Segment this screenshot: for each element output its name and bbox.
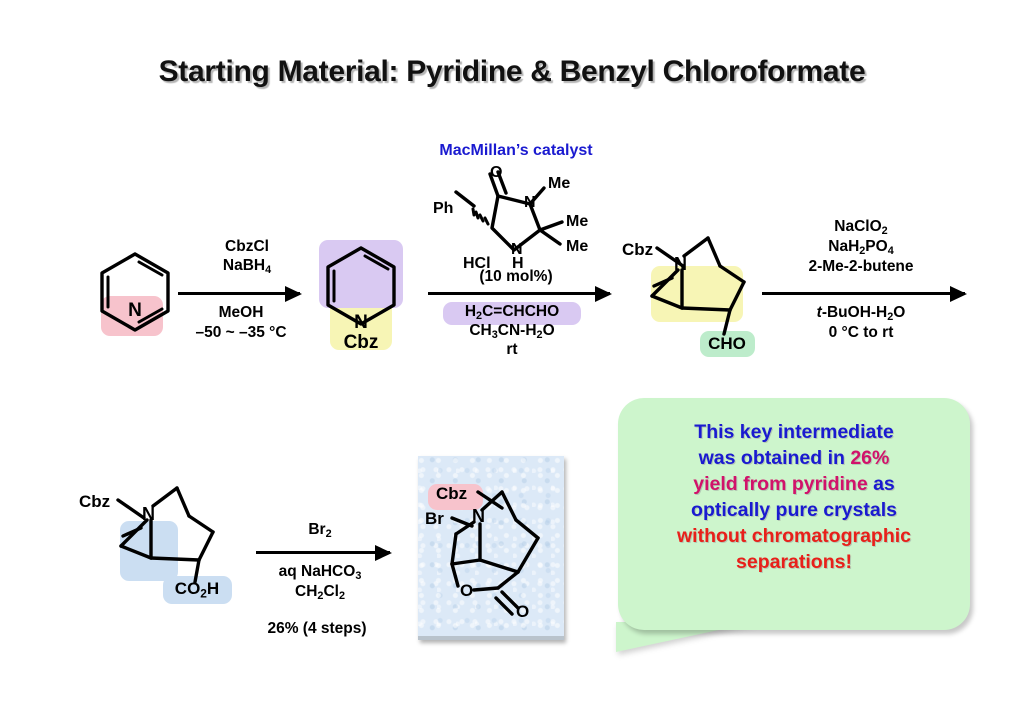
step2-reagent-acrolein: H2C=CHCHO [465,303,559,322]
callout-line-3: yield from pyridine as [618,472,970,498]
acid-cbz-label: Cbz [79,492,110,511]
bromolactone-carbonyl-oxygen-label: O [516,602,529,621]
step3-solvent: t-BuOH-H2O [817,304,906,323]
bromolactone-bromine-label: Br [425,509,444,528]
page-title: Starting Material: Pyridine & Benzyl Chl… [0,55,1024,89]
slide-canvas: Starting Material: Pyridine & Benzyl Chl… [0,0,1024,724]
step2-temperature: rt [506,341,517,358]
cbz-bond-aldehyde [657,246,687,268]
bromolactone-nitrogen-label: N [472,506,485,526]
step1-solvent: MeOH [219,304,264,321]
callout-text: This key intermediate was obtained in 26… [618,420,970,576]
step3-reagent-nah2po4: NaH2PO4 [828,238,893,257]
co2h-c: CO [175,579,201,598]
callout-line3-magenta: yield from pyridine [693,473,867,495]
step4-yield-note: 26% (4 steps) [267,620,366,637]
callout-line-4: optically pure crystals [618,498,970,524]
callout-line2-blue: was obtained in [699,447,851,469]
callout-line3-blue: as [868,473,895,495]
arrow-shaft [762,292,965,295]
structure-macmillan-catalyst [452,168,572,264]
dihydropyridine-cbz-label: Cbz [344,332,379,353]
structure-pyridine [98,252,172,330]
step1-reagent-nabh4: NaBH4 [223,257,271,276]
callout-line-2: was obtained in 26% [618,446,970,472]
bromolactone-cbz-label: Cbz [436,484,467,503]
br2-sub: 2 [326,528,332,540]
catalyst-caption: MacMillan’s catalyst [439,142,592,160]
callout-line2-magenta: 26% [850,447,889,469]
arrow-head [950,286,967,302]
arrow-head [595,286,612,302]
arrow-shaft [178,292,300,295]
step3-reagent-butene: 2-Me-2-butene [808,258,913,275]
callout-bubble: This key intermediate was obtained in 26… [618,398,970,630]
ch2cl2-sub-2: 2 [317,590,323,602]
step4-reagent-br2: Br2 [308,521,331,540]
acid-co2h-label: CO2H [175,579,219,601]
nah2po4-sub-4: 4 [888,245,894,257]
callout-line-5: without chromatographic [618,524,970,550]
arrow-shaft [428,292,610,295]
co2h-h: H [207,579,219,598]
tbuoh-sub: 2 [887,311,893,323]
aldehyde-cho-label: CHO [708,334,746,353]
ch2cl2-sub-2b: 2 [339,590,345,602]
step4-base: aq NaHCO3 [279,563,362,582]
solvent-sub-2: 2 [537,329,543,341]
naclo2-sub: 2 [882,225,888,237]
acrolein-sub-2: 2 [476,310,482,322]
arrow-head [375,545,392,561]
step1-temperature: –50 ~ –35 °C [195,324,286,341]
cbz-bond-acid [118,498,148,520]
structure-dihydropyridine [324,246,398,324]
step1-reagent-nabh4-sub: 4 [265,264,271,276]
step4-solvent: CH2Cl2 [295,583,345,602]
callout-line-6: separations! [618,550,970,576]
nah2po4-sub-2: 2 [859,245,865,257]
tbuoh-italic-t: t [817,304,822,321]
nahco3-sub: 3 [355,570,361,582]
step1-reagent-cbzcl: CbzCl [225,238,269,255]
step3-reagent-naclo2: NaClO2 [834,218,887,237]
arrow-head [285,286,302,302]
step2-solvent: CH3CN-H2O [469,322,554,341]
catalyst-phenyl-label: Ph [433,200,453,218]
bromolactone-ring-oxygen-label: O [460,581,473,600]
solvent-sub-3: 3 [492,329,498,341]
step3-temperature: 0 °C to rt [829,324,894,341]
step2-catalyst-loading: (10 mol%) [479,268,552,285]
step1-reagent-nabh4-text: NaBH [223,257,265,274]
arrow-shaft [256,551,390,554]
callout-line-1: This key intermediate [618,420,970,446]
